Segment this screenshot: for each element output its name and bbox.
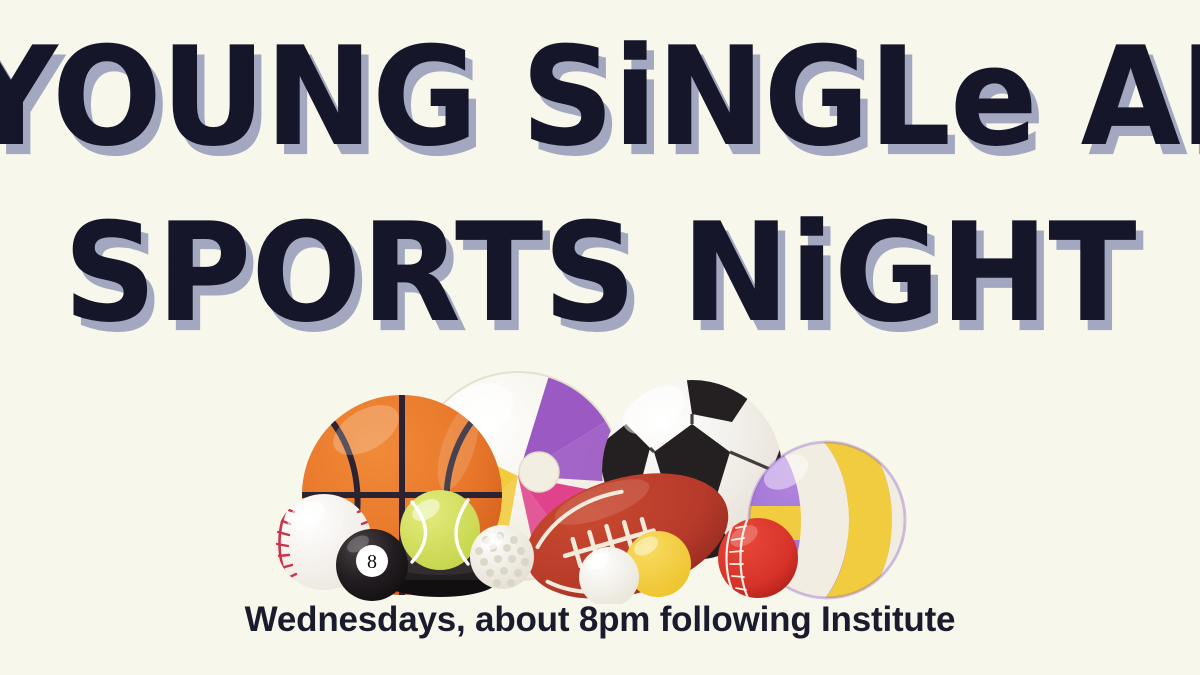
poster-title: YOUNG SiNGLe ADULT SPORTS NiGHT [0,36,1200,334]
title-line-2: SPORTS NiGHT [0,205,1200,342]
title-line-1-seg-b: NGL [656,17,950,176]
sports-balls-illustration: 8 [262,352,922,604]
eight-ball-icon: 8 [336,529,408,601]
cricket-ball-icon [718,518,798,598]
event-schedule-text: Wednesdays, about 8pm following Institut… [0,600,1200,640]
title-line-1-seg-a: YOUNG S [0,17,613,176]
title-line-2-seg-b: GHT [834,193,1137,352]
golf-ball-icon [470,525,534,589]
title-line-2-seg-a: SPORTS N [63,193,789,352]
title-line-1-seg-e: e [950,17,1037,176]
title-line-1: YOUNG SiNGLe ADULT [0,29,1200,166]
eight-ball-label: 8 [367,551,377,573]
title-line-1-seg-i: i [613,17,656,176]
tennis-ball-icon [400,490,480,570]
title-line-1-seg-c: ADULT [1037,17,1200,176]
title-line-2-seg-i: i [790,193,834,352]
poster-canvas: YOUNG SiNGLe ADULT SPORTS NiGHT [0,0,1200,675]
